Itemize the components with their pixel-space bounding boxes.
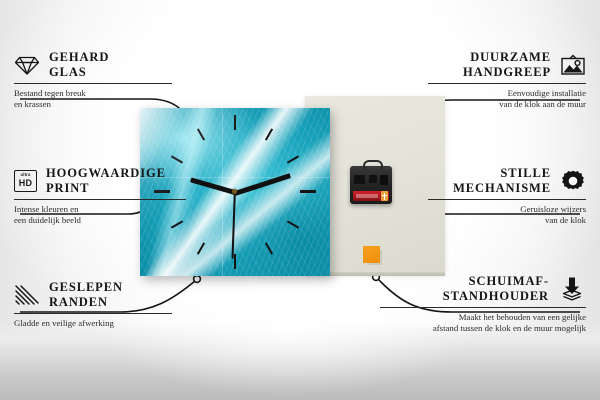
feature-description: Intense kleuren en (14, 204, 186, 215)
feature-rule (428, 83, 586, 84)
feature-title-line2: GLAS (49, 65, 109, 80)
feature-title-line2: PRINT (46, 181, 166, 196)
movement-notch (380, 175, 388, 185)
feature-title-line2: STANDHOUDER (443, 289, 549, 304)
movement-battery (353, 191, 389, 201)
feature-title: SCHUIMAF- (443, 274, 549, 289)
feature-description-line2: afstand tussen de klok en de muur mogeli… (380, 323, 586, 334)
feature-title: STILLE (453, 166, 551, 181)
foam-spacer (363, 246, 380, 263)
battery-plus-terminal (381, 191, 388, 201)
movement-notch (354, 175, 365, 184)
movement-hanger (363, 160, 383, 170)
feature-description: Gladde en veilige afwerking (14, 318, 172, 329)
feature-rule (428, 199, 586, 200)
feature-schuimafstandhouder: SCHUIMAF- STANDHOUDER Maakt het behouden… (380, 274, 586, 334)
feature-rule (14, 313, 172, 314)
ultra-hd-icon: ultra HD (14, 170, 37, 192)
product-infographic: GEHARD GLAS Bestand tegen breuk en krass… (0, 0, 600, 400)
feature-description-line2: van de klok (428, 215, 586, 226)
battery-label (356, 194, 378, 198)
feature-geslepen-randen: GESLEPEN RANDEN Gladde en veilige afwerk… (14, 280, 172, 329)
ultra-hd-icon-top: ultra (20, 173, 30, 177)
feature-description: Maakt het behouden van een gelijke (380, 312, 586, 323)
feature-gehard-glas: GEHARD GLAS Bestand tegen breuk en krass… (14, 50, 172, 110)
feature-description-line2: van de klok aan de muur (428, 99, 586, 110)
movement-notch (369, 175, 377, 183)
feature-title-line2: RANDEN (49, 295, 123, 310)
feature-stille-mechanisme: STILLE MECHANISME Geruisloze wijzers van… (428, 166, 586, 226)
ultra-hd-icon-bottom: HD (19, 179, 33, 188)
feature-description-line2: en krassen (14, 99, 172, 110)
feature-hoogwaardige-print: ultra HD HOOGWAARDIGE PRINT Intense kleu… (14, 166, 186, 226)
feature-duurzame-handgreep: DUURZAME HANDGREEP Eenvoudige installati… (428, 50, 586, 110)
feature-description-line2: een duidelijk beeld (14, 215, 186, 226)
feature-rule (14, 83, 172, 84)
feature-title: GESLEPEN (49, 280, 123, 295)
clock-movement (350, 166, 392, 204)
arrow-down-pad-icon (558, 276, 586, 302)
feature-description: Bestand tegen breuk (14, 88, 172, 99)
feature-description: Eenvoudige installatie (428, 88, 586, 99)
feature-title: DUURZAME (463, 50, 551, 65)
picture-frame-icon (560, 54, 586, 76)
gear-icon (560, 169, 586, 193)
diagonal-lines-icon (14, 284, 40, 306)
feature-title: HOOGWAARDIGE (46, 166, 166, 181)
feature-description: Geruisloze wijzers (428, 204, 586, 215)
feature-rule (14, 199, 186, 200)
feature-title: GEHARD (49, 50, 109, 65)
diamond-icon (14, 54, 40, 76)
feature-title-line2: MECHANISME (453, 181, 551, 196)
feature-title-line2: HANDGREEP (463, 65, 551, 80)
feature-rule (380, 307, 586, 308)
